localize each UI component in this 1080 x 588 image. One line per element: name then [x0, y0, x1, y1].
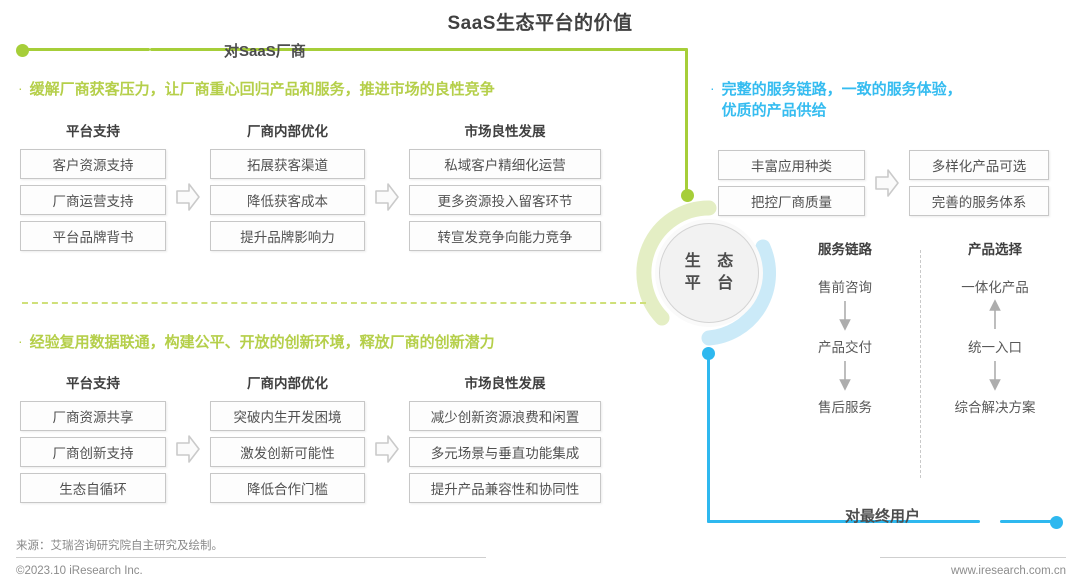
section-divider	[22, 302, 646, 304]
flow2-col-2: 市场良性发展 减少创新资源浪费和闲置 多元场景与垂直功能集成 提升产品兼容性和协…	[409, 372, 601, 503]
green-line-vertical	[685, 48, 688, 195]
right-arrow-icon	[175, 434, 201, 464]
down-arrow-icon	[838, 296, 852, 336]
flow-vendor-1: 平台支持 客户资源支持 厂商运营支持 平台品牌背书 厂商内部优化 拓展获客渠道 …	[20, 120, 601, 251]
right-table-col-service-item-1: 产品交付	[818, 336, 872, 356]
flow1-col-1-item-2: 提升品牌影响力	[210, 221, 365, 251]
right-arrow-icon	[374, 434, 400, 464]
ecosystem-label-line1: 生 态	[679, 251, 739, 273]
bullet-marker-icon: ·	[18, 332, 23, 351]
flow2-col-0: 平台支持 厂商资源共享 厂商创新支持 生态自循环	[20, 372, 166, 503]
flow2-col-2-item-2: 提升产品兼容性和协同性	[409, 473, 601, 503]
flow1-col-0: 平台支持 客户资源支持 厂商运营支持 平台品牌背书	[20, 120, 166, 251]
flow2-col-2-title: 市场良性发展	[465, 372, 546, 392]
flow2-col-1-item-1: 激发创新可能性	[210, 437, 365, 467]
flow3-col-1: 多样化产品可选 完善的服务体系	[909, 150, 1049, 216]
right-table-col-product-item-1: 统一入口	[968, 336, 1022, 356]
bullet-vendor-1: · 缓解厂商获客压力，让厂商重心回归产品和服务，推进市场的良性竞争	[18, 79, 495, 100]
blue-end-dot	[1050, 516, 1063, 529]
right-arrow-icon	[175, 182, 201, 212]
flow2-col-2-item-1: 多元场景与垂直功能集成	[409, 437, 601, 467]
flow1-col-2-item-0: 私域客户精细化运营	[409, 149, 601, 179]
source-note: 来源：艾瑞咨询研究院自主研究及绘制。	[16, 537, 223, 553]
flow1-col-0-item-0: 客户资源支持	[20, 149, 166, 179]
flow1-col-2-item-1: 更多资源投入留客环节	[409, 185, 601, 215]
flow3-arrow-0	[865, 168, 909, 198]
bullet-enduser-line2: 优质的产品供给	[722, 102, 827, 119]
copyright-text: ©2023.10 iResearch Inc.	[16, 565, 143, 577]
bullet-marker-icon: ·	[18, 79, 23, 98]
bullet-vendor-1-text: 缓解厂商获客压力，让厂商重心回归产品和服务，推进市场的良性竞争	[30, 79, 495, 100]
bullet-vendor-2: · 经验复用数据联通，构建公平、开放的创新环境，释放厂商的创新潜力	[18, 332, 495, 353]
footer-rule-right	[880, 557, 1066, 558]
flow2-col-0-item-2: 生态自循环	[20, 473, 166, 503]
flow2-col-1-title: 厂商内部优化	[247, 372, 328, 392]
flow2-arrow-1	[365, 412, 409, 464]
blue-line-vertical	[707, 353, 710, 523]
right-arrow-icon	[374, 182, 400, 212]
flow1-arrow-0	[166, 160, 210, 212]
down-arrow-icon	[838, 356, 852, 396]
right-table-col-product: 产品选择 一体化产品 统一入口 综合解决方案	[920, 238, 1070, 416]
flow1-col-2-item-2: 转宣发竞争向能力竞争	[409, 221, 601, 251]
bullet-enduser-line1: 完整的服务链路，一致的服务体验，	[722, 81, 962, 98]
flow2-arrow-0	[166, 412, 210, 464]
flow2-col-0-item-1: 厂商创新支持	[20, 437, 166, 467]
right-arrow-icon	[874, 168, 900, 198]
flow1-col-1-item-1: 降低获客成本	[210, 185, 365, 215]
flow1-col-1-title: 厂商内部优化	[247, 120, 328, 140]
diagram-canvas: SaaS生态平台的价值 对SaaS厂商 对最终用户 生 态 平 台 · 缓解厂商…	[0, 0, 1080, 588]
page-title: SaaS生态平台的价值	[0, 8, 1080, 35]
right-table-col-product-item-2: 综合解决方案	[955, 396, 1036, 416]
flow-vendor-2: 平台支持 厂商资源共享 厂商创新支持 生态自循环 厂商内部优化 突破内生开发困境…	[20, 372, 601, 503]
flow1-col-0-item-2: 平台品牌背书	[20, 221, 166, 251]
flow1-arrow-1	[365, 160, 409, 212]
flow2-col-1-item-0: 突破内生开发困境	[210, 401, 365, 431]
flow2-col-0-title: 平台支持	[66, 372, 120, 392]
flow1-col-1-item-0: 拓展获客渠道	[210, 149, 365, 179]
flow1-col-1: 厂商内部优化 拓展获客渠道 降低获客成本 提升品牌影响力	[210, 120, 365, 251]
down-arrow-icon	[988, 356, 1002, 396]
blue-line-bottom	[707, 520, 980, 523]
website-url: www.iresearch.com.cn	[951, 565, 1066, 577]
up-arrow-icon	[988, 296, 1002, 336]
flow3-col-1-item-1: 完善的服务体系	[909, 186, 1049, 216]
right-table-col-service-item-0: 售前咨询	[818, 276, 872, 296]
right-table-col-service: 服务链路 售前咨询 产品交付 售后服务	[770, 238, 920, 416]
bullet-enduser-1: · 完整的服务链路，一致的服务体验， 优质的产品供给	[710, 79, 1020, 121]
flow3-col-0-item-1: 把控厂商质量	[718, 186, 865, 216]
flow-enduser: 丰富应用种类 把控厂商质量 多样化产品可选 完善的服务体系	[718, 150, 1049, 216]
footer-rule-left	[16, 557, 486, 558]
flow2-col-2-item-0: 减少创新资源浪费和闲置	[409, 401, 601, 431]
ecosystem-circle: 生 态 平 台	[659, 223, 759, 323]
bullet-vendor-2-text: 经验复用数据联通，构建公平、开放的创新环境，释放厂商的创新潜力	[30, 332, 495, 353]
flow3-col-0: 丰富应用种类 把控厂商质量	[718, 150, 865, 216]
right-table-col-service-head: 服务链路	[818, 238, 872, 258]
flow2-col-0-item-0: 厂商资源共享	[20, 401, 166, 431]
bullet-marker-icon: ·	[710, 79, 715, 98]
flow3-col-1-item-0: 多样化产品可选	[909, 150, 1049, 180]
ecosystem-platform-node: 生 态 平 台	[636, 200, 782, 346]
section-header-vendor: 对SaaS厂商	[224, 40, 306, 61]
flow2-col-1-item-2: 降低合作门槛	[210, 473, 365, 503]
flow1-col-2: 市场良性发展 私域客户精细化运营 更多资源投入留客环节 转宣发竞争向能力竞争	[409, 120, 601, 251]
right-table: 服务链路 售前咨询 产品交付 售后服务 产品选择 一体化产品 统一入口 综合解决…	[770, 238, 1070, 416]
flow2-col-1: 厂商内部优化 突破内生开发困境 激发创新可能性 降低合作门槛	[210, 372, 365, 503]
right-table-col-product-item-0: 一体化产品	[961, 276, 1029, 296]
section-header-enduser: 对最终用户	[845, 505, 920, 526]
bullet-enduser-1-text: 完整的服务链路，一致的服务体验， 优质的产品供给	[722, 79, 962, 121]
flow3-col-0-item-0: 丰富应用种类	[718, 150, 865, 180]
flow1-col-2-title: 市场良性发展	[465, 120, 546, 140]
right-table-col-service-item-2: 售后服务	[818, 396, 872, 416]
flow1-col-0-item-1: 厂商运营支持	[20, 185, 166, 215]
ecosystem-label-line2: 平 台	[679, 273, 739, 295]
right-table-col-product-head: 产品选择	[968, 238, 1022, 258]
flow1-col-0-title: 平台支持	[66, 120, 120, 140]
green-line-left	[22, 48, 150, 51]
